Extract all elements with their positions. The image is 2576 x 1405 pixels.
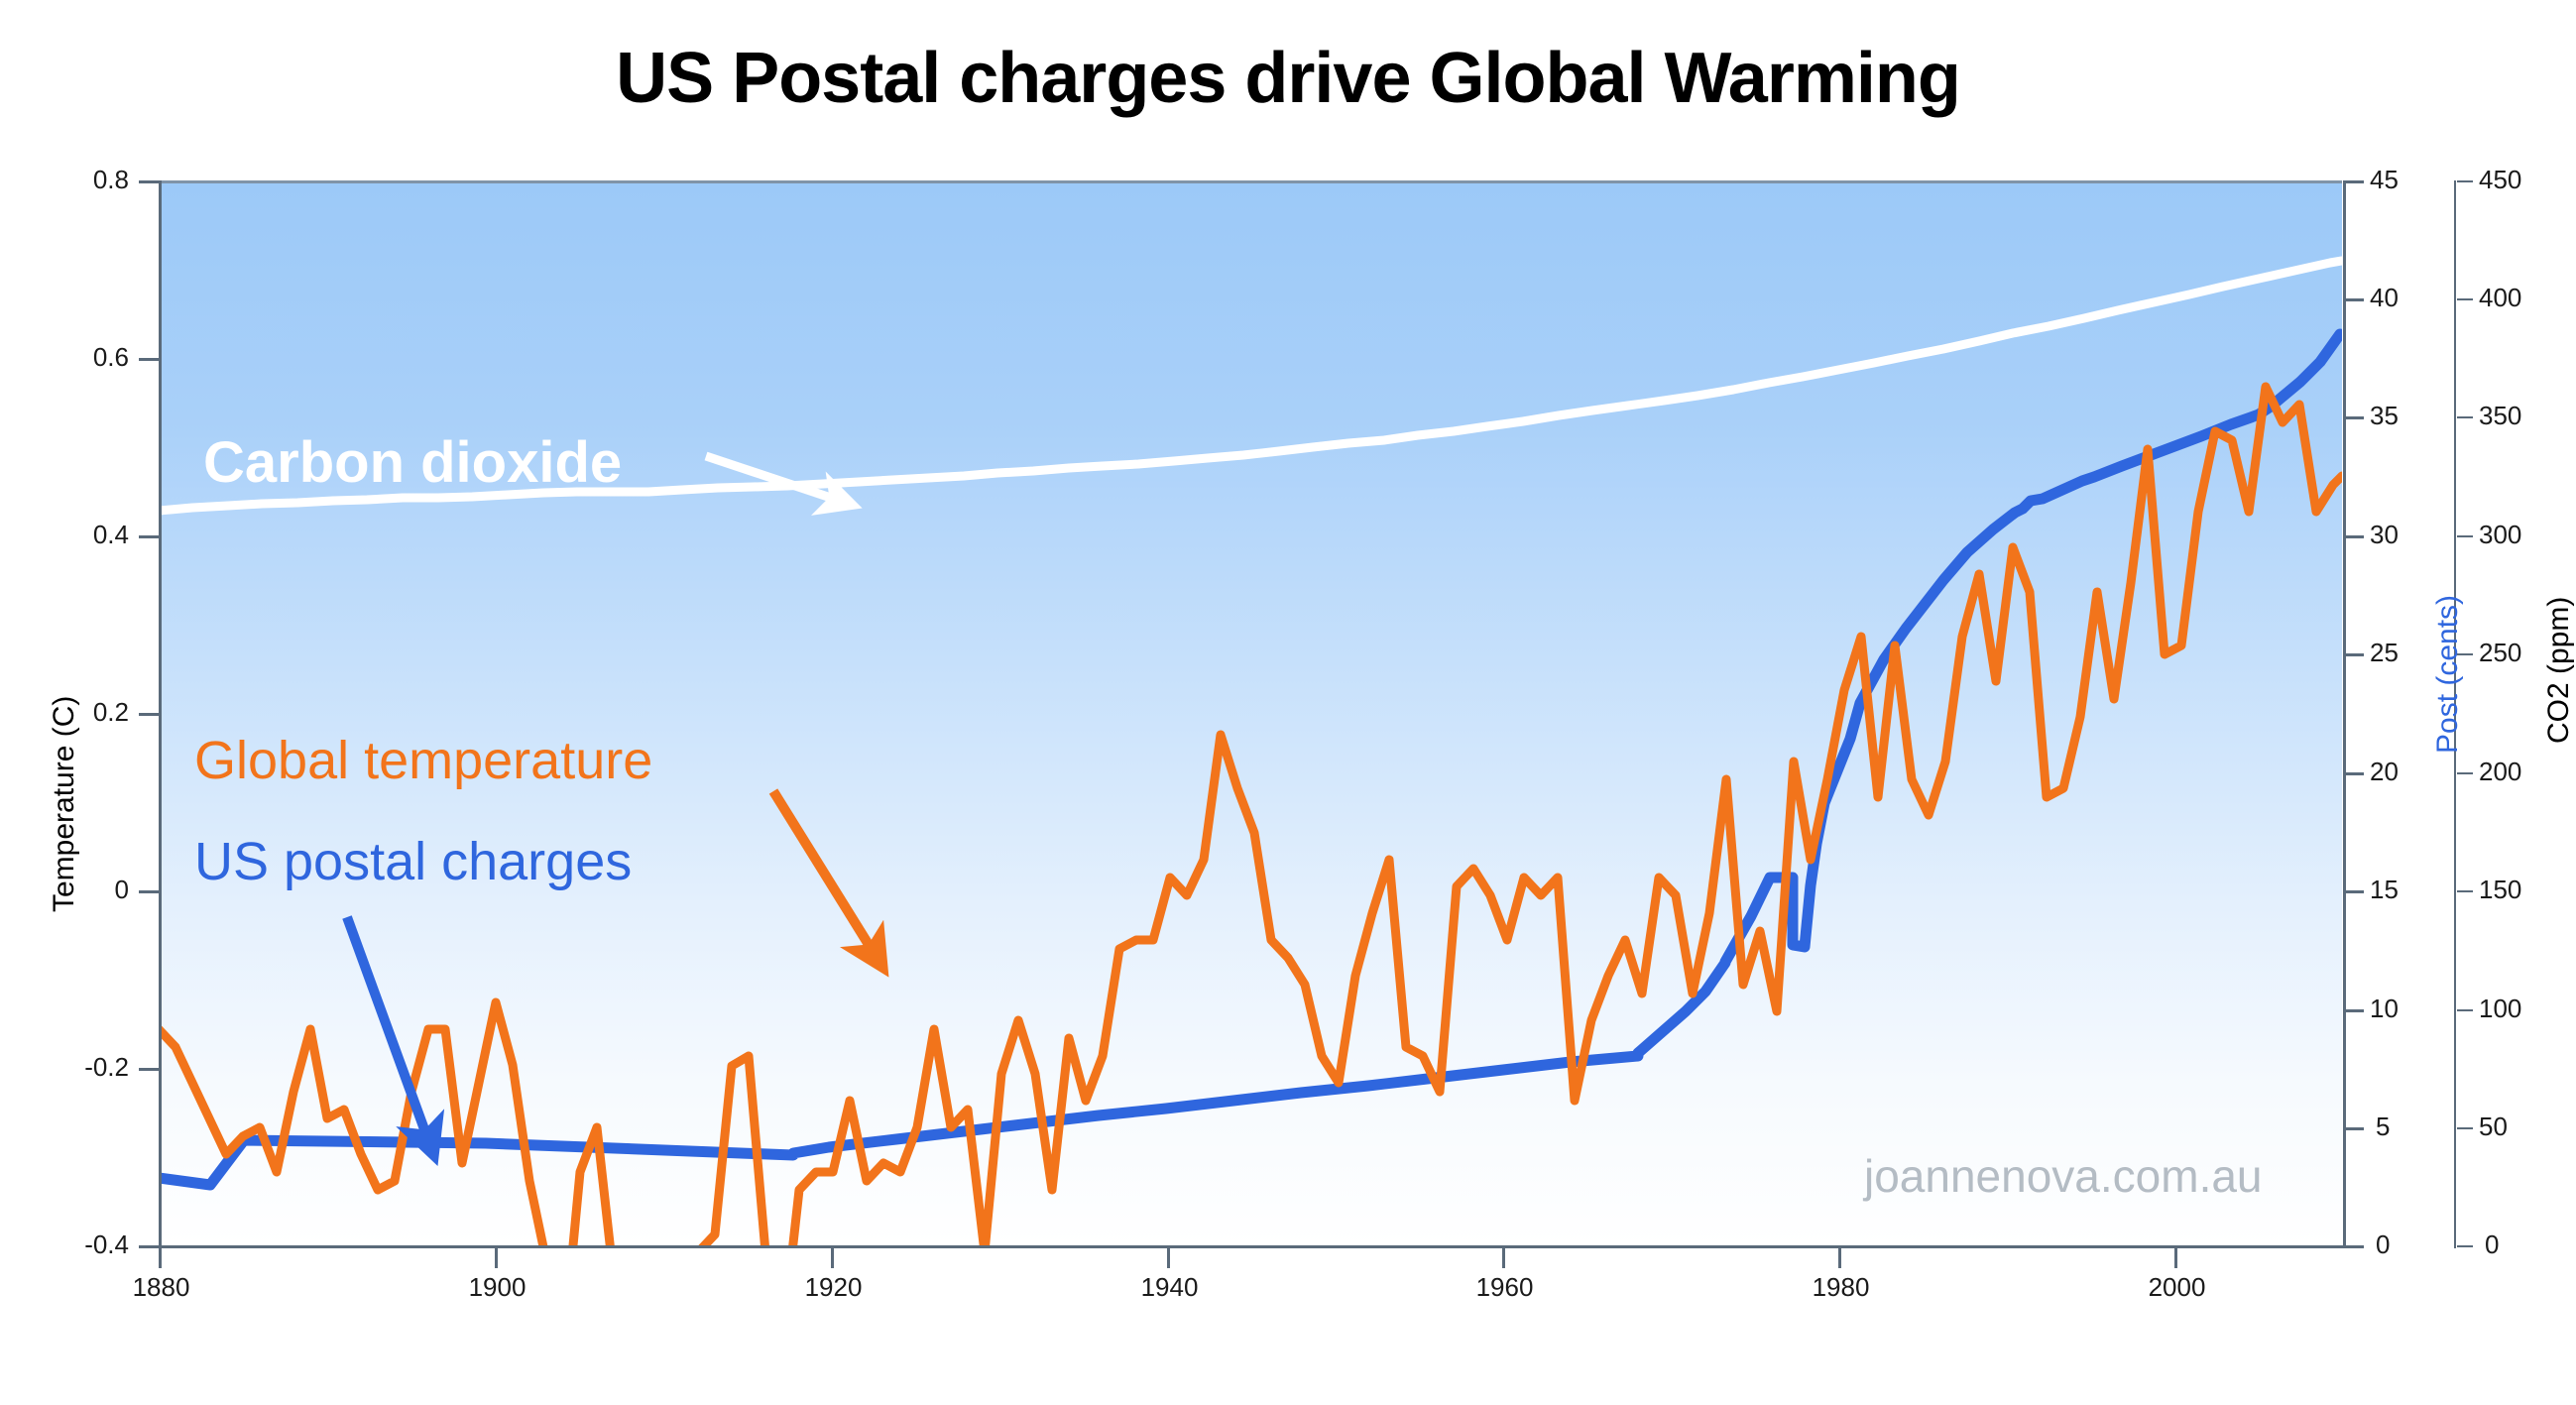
co2-axis-tick	[2457, 180, 2473, 182]
post-axis-tick-label: 40	[2370, 283, 2399, 313]
bottom-axis-tick-label: 1960	[1448, 1272, 1562, 1303]
annotation-us-postal-charges: US postal charges	[194, 831, 632, 892]
co2-axis-tick-label: 100	[2479, 994, 2521, 1024]
post-axis-tick-label: 10	[2370, 994, 2399, 1024]
co2-axis-tick-label: 200	[2479, 757, 2521, 787]
co2-axis-tick	[2457, 772, 2473, 774]
bottom-axis-tick	[2174, 1248, 2177, 1268]
bottom-axis-tick-label: 1920	[776, 1272, 890, 1303]
watermark-text: joannenova.com.au	[1864, 1149, 2263, 1203]
co2-axis-tick	[2457, 535, 2473, 537]
post-axis-tick-label: 35	[2370, 401, 2399, 431]
bottom-axis-tick	[495, 1248, 498, 1268]
left-axis-tick	[139, 1245, 159, 1248]
bottom-axis-tick-label: 1880	[104, 1272, 218, 1303]
annotation-global-temperature: Global temperature	[194, 730, 652, 791]
plot-area	[159, 180, 2342, 1245]
series-canvas	[159, 183, 2342, 1248]
left-axis-tick	[139, 180, 159, 183]
co2-axis-title: CO2 (ppm)	[2542, 597, 2576, 744]
post-axis-tick	[2346, 1245, 2364, 1248]
post-axis-tick-label: 45	[2370, 165, 2399, 195]
chart-figure: US Postal charges drive Global Warming 0…	[0, 0, 2576, 1405]
post-axis-tick	[2346, 1009, 2364, 1012]
chart-title: US Postal charges drive Global Warming	[0, 38, 2576, 119]
post-axis-tick-label: 30	[2370, 520, 2399, 550]
post-axis-tick-label: 20	[2370, 757, 2399, 787]
co2-axis-tick	[2457, 416, 2473, 418]
post-axis-tick-label: 25	[2370, 638, 2399, 668]
left-axis-tick-label: 0.6	[30, 342, 129, 373]
left-axis-tick-label: -0.2	[30, 1052, 129, 1083]
left-axis-tick	[139, 358, 159, 361]
left-axis-tick-label: -0.4	[30, 1229, 129, 1260]
bottom-axis-tick	[1502, 1248, 1505, 1268]
co2-axis-tick	[2457, 1245, 2473, 1247]
bottom-axis-tick-label: 2000	[2120, 1272, 2234, 1303]
co2-axis-tick	[2457, 890, 2473, 892]
co2-axis-tick-label: 400	[2479, 283, 2521, 313]
post-axis-tick	[2346, 890, 2364, 893]
post-axis-tick	[2346, 772, 2364, 775]
bottom-axis-tick-label: 1900	[440, 1272, 554, 1303]
post-axis-title: Post (cents)	[2431, 595, 2465, 754]
left-axis-tick-label: 0.4	[30, 520, 129, 550]
left-axis-tick	[139, 890, 159, 893]
post-axis-tick	[2346, 298, 2364, 301]
post-axis-tick	[2346, 416, 2364, 419]
post-axis-tick	[2346, 1127, 2364, 1130]
co2-axis-tick	[2457, 1009, 2473, 1011]
co2-axis-tick-label: 250	[2479, 638, 2521, 668]
post-axis-tick	[2346, 180, 2364, 183]
co2-axis-tick-label: 300	[2479, 520, 2521, 550]
left-axis-title: Temperature (C)	[48, 696, 81, 912]
bottom-axis-tick	[159, 1248, 162, 1268]
co2-axis-tick-label: 0	[2485, 1229, 2499, 1260]
bottom-axis-tick-label: 1940	[1112, 1272, 1227, 1303]
post-axis-tick	[2346, 653, 2364, 656]
post-axis-tick-label: 0	[2376, 1229, 2390, 1260]
bottom-axis-tick	[1838, 1248, 1841, 1268]
bottom-axis-line	[159, 1245, 2345, 1248]
co2-axis-tick-label: 50	[2479, 1112, 2508, 1142]
left-axis-tick	[139, 535, 159, 538]
bottom-axis-tick-label: 1980	[1784, 1272, 1898, 1303]
co2-axis-tick	[2457, 1127, 2473, 1129]
post-axis-tick-label: 15	[2370, 875, 2399, 905]
co2-axis-tick	[2457, 298, 2473, 300]
left-axis-tick	[139, 713, 159, 716]
annotation-carbon-dioxide: Carbon dioxide	[203, 429, 622, 496]
bottom-axis-tick	[1167, 1248, 1170, 1268]
co2-axis-tick-label: 150	[2479, 875, 2521, 905]
post-axis-tick-label: 5	[2376, 1112, 2390, 1142]
left-axis-tick	[139, 1068, 159, 1071]
co2-axis-tick-label: 450	[2479, 165, 2521, 195]
right-axis-line-post	[2343, 180, 2346, 1248]
left-axis-tick-label: 0.8	[30, 165, 129, 195]
co2-axis-tick-label: 350	[2479, 401, 2521, 431]
left-axis-line	[159, 180, 162, 1248]
post-axis-tick	[2346, 535, 2364, 538]
co2-axis-tick	[2457, 653, 2473, 655]
bottom-axis-tick	[831, 1248, 834, 1268]
